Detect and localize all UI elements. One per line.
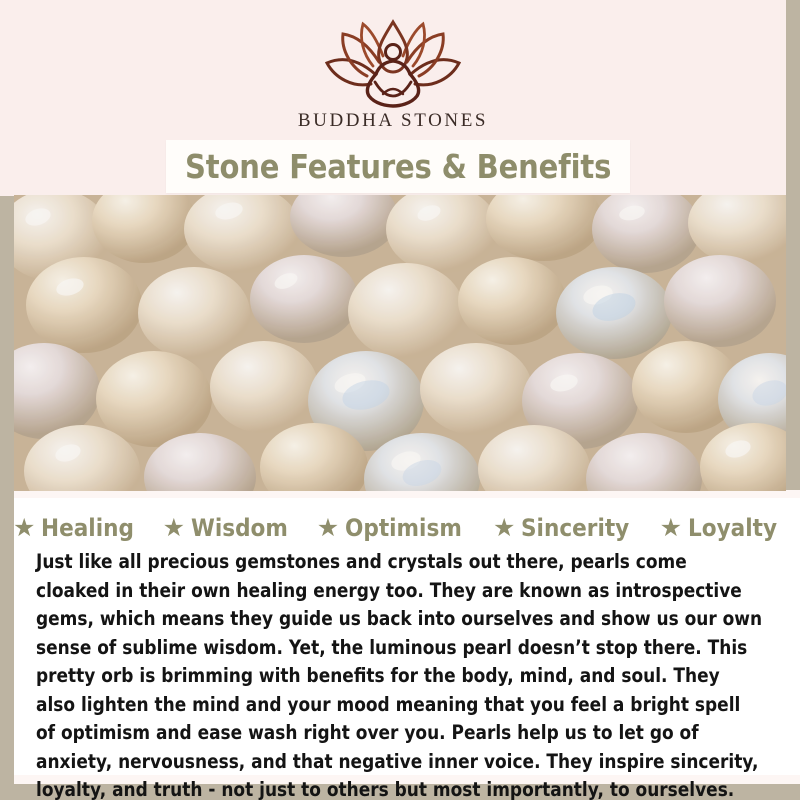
page-title: Stone Features & Benefits	[185, 147, 611, 186]
keyword-item: ★ Loyalty	[660, 514, 787, 542]
keyword-label: Wisdom	[191, 514, 288, 542]
brand-name: BUDDHA STONES	[298, 110, 488, 132]
keyword-item: ★ Wisdom	[163, 514, 299, 542]
brand-logo-block: BUDDHA STONES	[0, 0, 786, 140]
star-icon: ★	[660, 516, 682, 541]
star-icon: ★	[163, 516, 185, 541]
star-icon: ★	[13, 516, 35, 541]
keyword-label: Healing	[41, 514, 134, 542]
keyword-item: ★ Optimism	[317, 514, 475, 542]
description-paragraph: Just like all precious gemstones and cry…	[36, 548, 764, 800]
benefit-keyword-row: ★ Healing ★ Wisdom ★ Optimism ★ Sincerit…	[14, 514, 786, 542]
keyword-label: Sincerity	[521, 514, 629, 542]
lotus-meditation-icon	[313, 16, 473, 108]
keyword-item: ★ Healing	[13, 514, 145, 542]
star-icon: ★	[317, 516, 339, 541]
pearl-photo: Pearl	[14, 195, 786, 491]
star-icon: ★	[493, 516, 515, 541]
keyword-item: ★ Sincerity	[493, 514, 642, 542]
infographic-page: BUDDHA STONES Stone Features & Benefits	[0, 0, 800, 800]
keyword-label: Optimism	[345, 514, 462, 542]
page-title-plaque: Stone Features & Benefits	[166, 140, 630, 193]
keyword-label: Loyalty	[688, 514, 777, 542]
